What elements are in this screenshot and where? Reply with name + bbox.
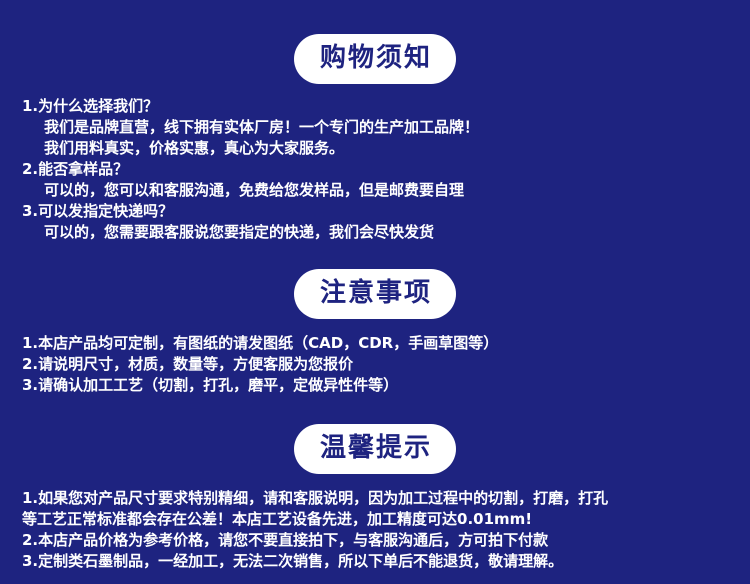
section-body-attention-items: 1.本店产品均可定制，有图纸的请发图纸（CAD，CDR，手画草图等） 2.请说明… xyxy=(0,333,750,396)
notice-line: 2.能否拿样品？ xyxy=(22,159,750,180)
attention-line: 1.本店产品均可定制，有图纸的请发图纸（CAD，CDR，手画草图等） xyxy=(22,333,750,354)
warm-tip-line: 2.本店产品价格为参考价格，请您不要直接拍下，与客服沟通后，方可拍下付款 xyxy=(22,530,750,551)
notice-line: 我们用料真实，价格实惠，真心为大家服务。 xyxy=(22,138,750,159)
notice-line: 1.为什么选择我们？ xyxy=(22,96,750,117)
warm-tip-line: 3.定制类石墨制品，一经加工，无法二次销售，所以下单后不能退货，敬请理解。 xyxy=(22,551,750,572)
section-heading-shopping-notice: 购物须知 xyxy=(294,34,456,84)
notice-line: 我们是品牌直营，线下拥有实体厂房！一个专门的生产加工品牌！ xyxy=(22,117,750,138)
section-heading-row-shopping-notice: 购物须知 xyxy=(0,34,750,84)
section-heading-row-attention-items: 注意事项 xyxy=(0,269,750,319)
notice-line: 可以的，您需要跟客服说您要指定的快递，我们会尽快发货 xyxy=(22,222,750,243)
notice-line: 3.可以发指定快递吗？ xyxy=(22,201,750,222)
warm-tip-line: 1.如果您对产品尺寸要求特别精细，请和客服说明，因为加工过程中的切割，打磨，打孔 xyxy=(22,488,750,509)
section-body-shopping-notice: 1.为什么选择我们？ 我们是品牌直营，线下拥有实体厂房！一个专门的生产加工品牌！… xyxy=(0,96,750,243)
notice-line: 可以的，您可以和客服沟通，免费给您发样品，但是邮费要自理 xyxy=(22,180,750,201)
warm-tip-line: 等工艺正常标准都会存在公差！本店工艺设备先进，加工精度可达0.01mm! xyxy=(22,509,750,530)
section-heading-attention-items: 注意事项 xyxy=(294,269,456,319)
section-heading-row-warm-tips: 温馨提示 xyxy=(0,424,750,474)
section-heading-warm-tips: 温馨提示 xyxy=(294,424,456,474)
attention-line: 3.请确认加工工艺（切割，打孔，磨平，定做异性件等） xyxy=(22,375,750,396)
attention-line: 2.请说明尺寸，材质，数量等，方便客服为您报价 xyxy=(22,354,750,375)
promo-info-panel: 购物须知 1.为什么选择我们？ 我们是品牌直营，线下拥有实体厂房！一个专门的生产… xyxy=(0,34,750,584)
section-body-warm-tips: 1.如果您对产品尺寸要求特别精细，请和客服说明，因为加工过程中的切割，打磨，打孔… xyxy=(0,488,750,572)
